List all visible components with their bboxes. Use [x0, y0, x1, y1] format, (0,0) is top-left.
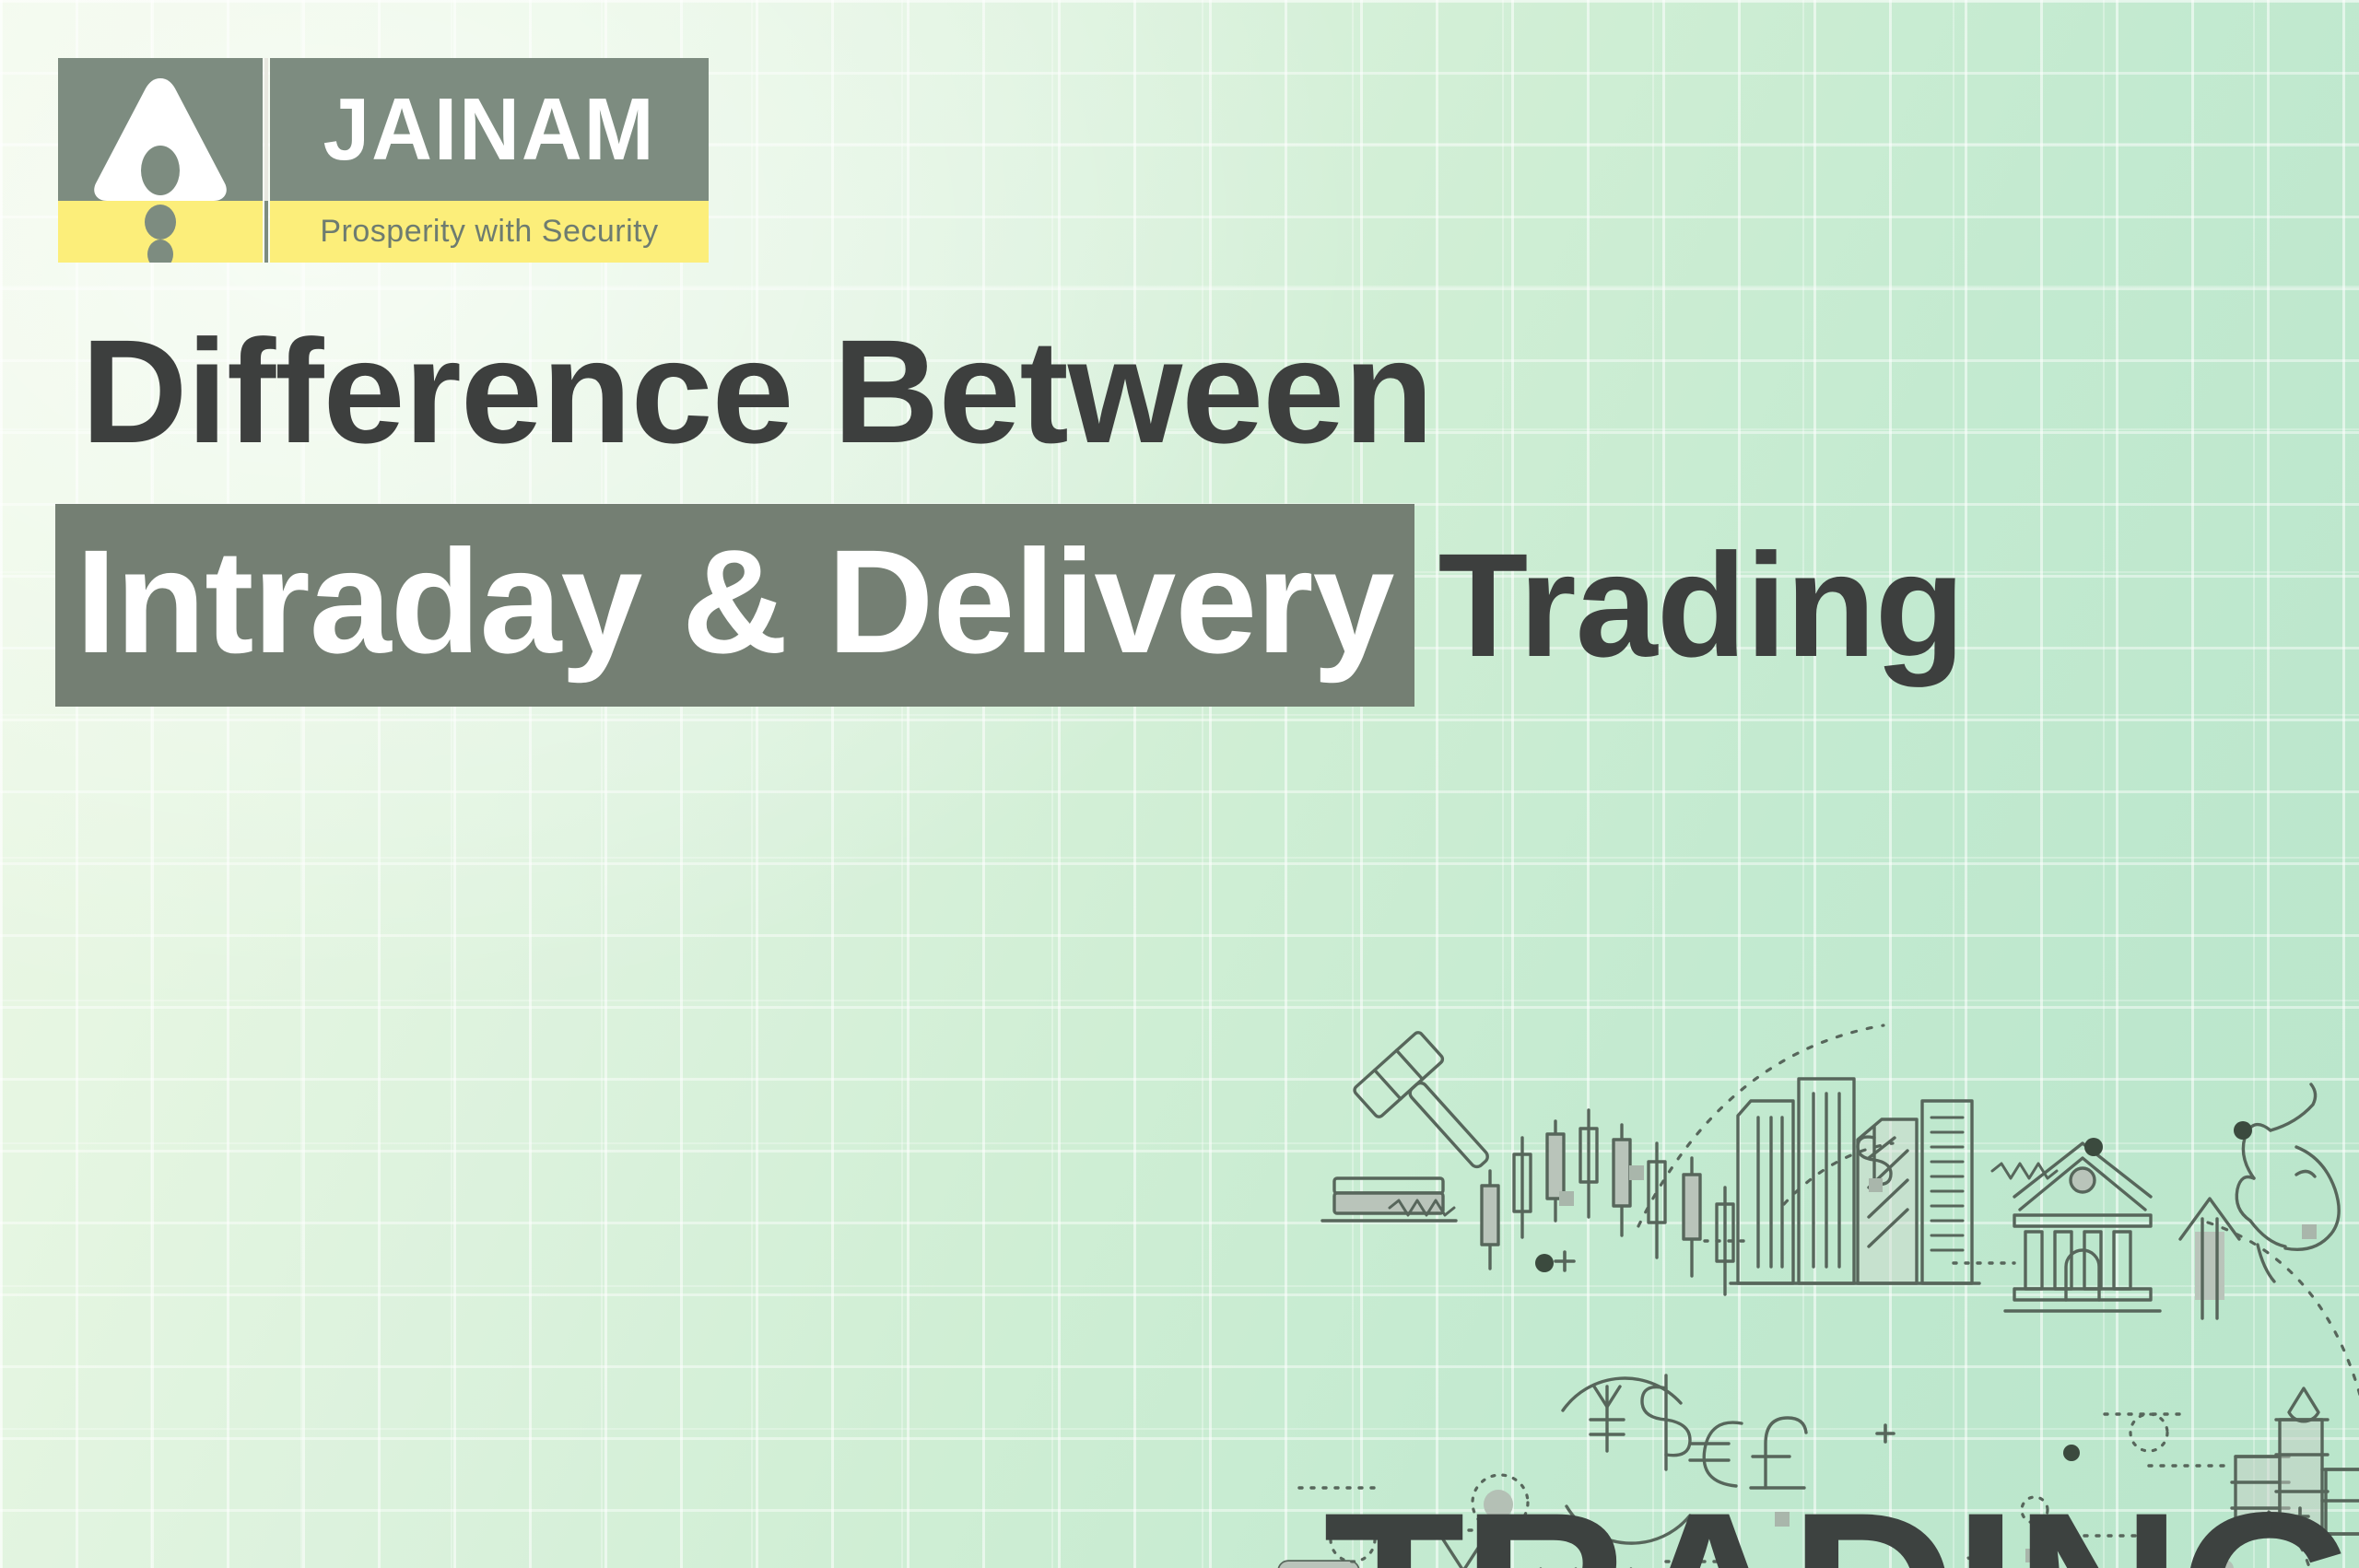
- logo-wordmark: JAINAM Prosperity with Security: [270, 58, 709, 263]
- banner: JAINAM Prosperity with Security Differen…: [0, 0, 2359, 1568]
- oil-drop-icon: [2289, 1388, 2318, 1422]
- headline-block: Difference Between Intraday & Delivery T…: [0, 318, 2359, 707]
- logo-brand-name: JAINAM: [281, 58, 698, 201]
- candlestick-chart-icon: [1482, 1110, 1733, 1294]
- bank-building-icon: [2005, 1143, 2160, 1311]
- trading-wordmark: TRADING: [1323, 1465, 2355, 1568]
- skyscrapers-icon: [1731, 1079, 1979, 1283]
- logo-tagline: Prosperity with Security: [270, 201, 709, 263]
- headline-line-1: Difference Between: [81, 318, 2359, 465]
- triangle-dot-logo-icon: [58, 58, 263, 263]
- jainam-logo[interactable]: JAINAM Prosperity with Security: [58, 58, 709, 263]
- bull-head-icon: [2236, 1084, 2339, 1281]
- headline-line-2-rest: Trading: [1438, 532, 1965, 679]
- dollar-symbol-icon: [1642, 1375, 1690, 1469]
- headline-highlight: Intraday & Delivery: [55, 504, 1414, 707]
- up-arrow-icon: [2180, 1199, 2239, 1318]
- headline-line-2: Intraday & Delivery Trading: [55, 504, 2359, 707]
- trading-illustration: TRADING: [1272, 990, 2359, 1568]
- logo-mark: [58, 58, 263, 263]
- logo-divider: [263, 58, 270, 263]
